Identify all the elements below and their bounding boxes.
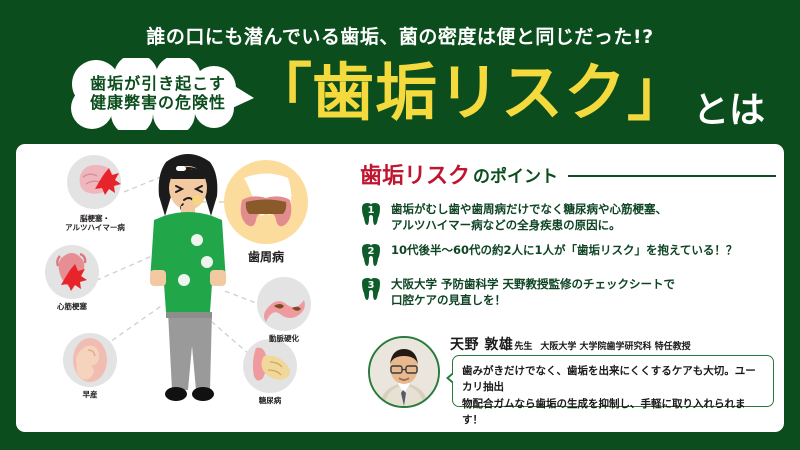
points-heading-rest: のポイント xyxy=(473,162,558,187)
doctor-name-row: 天野 敦雄 先生 大阪大学 大学院歯学研究科 特任教授 xyxy=(450,334,691,354)
title-main-text: 歯垢リスク xyxy=(312,62,627,124)
diagram-label-diabetes-line1: 糖尿病 xyxy=(222,396,318,405)
point-text: 大阪大学 予防歯科学 天野教授監修のチェックシートで 口腔ケアの見直しを！ xyxy=(391,276,675,309)
tooth-icon-number: 2 xyxy=(360,246,382,257)
doctor-quote-line1: 歯みがきだけでなく、歯垢を出来にくくするケアも大切。ユーカリ抽出 xyxy=(462,363,764,396)
list-item: 2 10代後半〜60代の約2人に1人が「歯垢リスク」を抱えている！？ xyxy=(360,242,776,268)
tooth-icon: 1 xyxy=(360,202,382,227)
body-risk-diagram: 脳梗塞・ アルツハイマー病 心筋梗塞 早産 動脈硬化 糖尿病 歯周病 xyxy=(16,144,356,432)
header-cloud-text: 歯垢が引き起こす 健康弊害の危険性 xyxy=(62,58,254,130)
points-section: 歯垢リスク のポイント 1 歯垢がむし歯や歯周病だけでなく糖尿病や心筋梗塞、 ア… xyxy=(360,158,776,316)
title-close-bracket: 」 xyxy=(627,62,689,124)
point-text-line1: 大阪大学 予防歯科学 天野教授監修のチェックシートで xyxy=(391,276,675,292)
diagram-label-preterm: 早産 xyxy=(42,390,138,399)
doctor-quote-line2: 物配合ガムなら歯垢の生成を抑制し、手軽に取り入れられます！ xyxy=(462,396,764,429)
header-cloud-bubble: 歯垢が引き起こす 健康弊害の危険性 xyxy=(62,58,254,130)
tooth-icon: 2 xyxy=(360,243,382,268)
points-heading: 歯垢リスク のポイント xyxy=(360,158,776,190)
header-kicker: 誰の口にも潜んでいる歯垢、菌の密度は便と同じだった!? xyxy=(0,22,800,49)
title-open-bracket: 「 xyxy=(250,62,312,124)
diagram-label-periodontal-text: 歯周病 xyxy=(220,250,312,265)
points-heading-rule xyxy=(568,175,776,177)
diagram-label-preterm-line1: 早産 xyxy=(42,390,138,399)
point-text-line1: 10代後半〜60代の約2人に1人が「歯垢リスク」を抱えている！？ xyxy=(391,242,737,258)
point-text-line1: 歯垢がむし歯や歯周病だけでなく糖尿病や心筋梗塞、 xyxy=(391,201,667,217)
diagram-label-artery: 動脈硬化 xyxy=(236,334,332,343)
diagram-label-heart-line1: 心筋梗塞 xyxy=(24,302,120,311)
doctor-name: 天野 敦雄 xyxy=(450,334,513,354)
cloud-line-2: 健康弊害の危険性 xyxy=(90,94,226,113)
doctor-affiliation: 大阪大学 大学院歯学研究科 特任教授 xyxy=(540,339,690,352)
tooth-icon: 3 xyxy=(360,277,382,302)
diagram-label-periodontal: 歯周病 xyxy=(220,250,312,265)
avatar xyxy=(368,336,440,408)
point-text-line2: アルツハイマー病などの全身疾患の原因に。 xyxy=(391,217,667,233)
list-item: 3 大阪大学 予防歯科学 天野教授監修のチェックシートで 口腔ケアの見直しを！ xyxy=(360,276,776,309)
diagram-label-artery-line1: 動脈硬化 xyxy=(236,334,332,343)
diagram-label-brain-line2: アルツハイマー病 xyxy=(47,223,143,232)
point-text: 歯垢がむし歯や歯周病だけでなく糖尿病や心筋梗塞、 アルツハイマー病などの全身疾患… xyxy=(391,201,667,234)
title-suffix: とは xyxy=(693,92,765,128)
doctor-honorific: 先生 xyxy=(514,339,532,352)
cloud-line-1: 歯垢が引き起こす xyxy=(90,75,226,94)
header-main-title: 「 歯垢リスク 」 とは xyxy=(250,52,765,134)
header-title-row: 歯垢が引き起こす 健康弊害の危険性 「 歯垢リスク 」 とは xyxy=(0,52,800,134)
points-list: 1 歯垢がむし歯や歯周病だけでなく糖尿病や心筋梗塞、 アルツハイマー病などの全身… xyxy=(360,201,776,308)
tooth-icon-number: 3 xyxy=(360,280,382,291)
doctor-quote-bubble: 歯みがきだけでなく、歯垢を出来にくくするケアも大切。ユーカリ抽出 物配合ガムなら… xyxy=(452,355,774,407)
infographic-root: 誰の口にも潜んでいる歯垢、菌の密度は便と同じだった!? 歯垢 xyxy=(0,0,800,450)
point-text: 10代後半〜60代の約2人に1人が「歯垢リスク」を抱えている！？ xyxy=(391,242,737,258)
diagram-label-heart: 心筋梗塞 xyxy=(24,302,120,311)
content-card: 脳梗塞・ アルツハイマー病 心筋梗塞 早産 動脈硬化 糖尿病 歯周病 歯垢リスク xyxy=(16,144,784,432)
diagram-label-diabetes: 糖尿病 xyxy=(222,396,318,405)
doctor-profile: 天野 敦雄 先生 大阪大学 大学院歯学研究科 特任教授 歯みがきだけでなく、歯垢… xyxy=(368,330,780,420)
diagram-label-brain-line1: 脳梗塞・ xyxy=(47,214,143,223)
diagram-label-brain: 脳梗塞・ アルツハイマー病 xyxy=(47,214,143,233)
list-item: 1 歯垢がむし歯や歯周病だけでなく糖尿病や心筋梗塞、 アルツハイマー病などの全身… xyxy=(360,201,776,234)
point-text-line2: 口腔ケアの見直しを！ xyxy=(391,292,675,308)
tooth-icon-number: 1 xyxy=(360,205,382,216)
points-heading-accent: 歯垢リスク xyxy=(360,158,470,190)
